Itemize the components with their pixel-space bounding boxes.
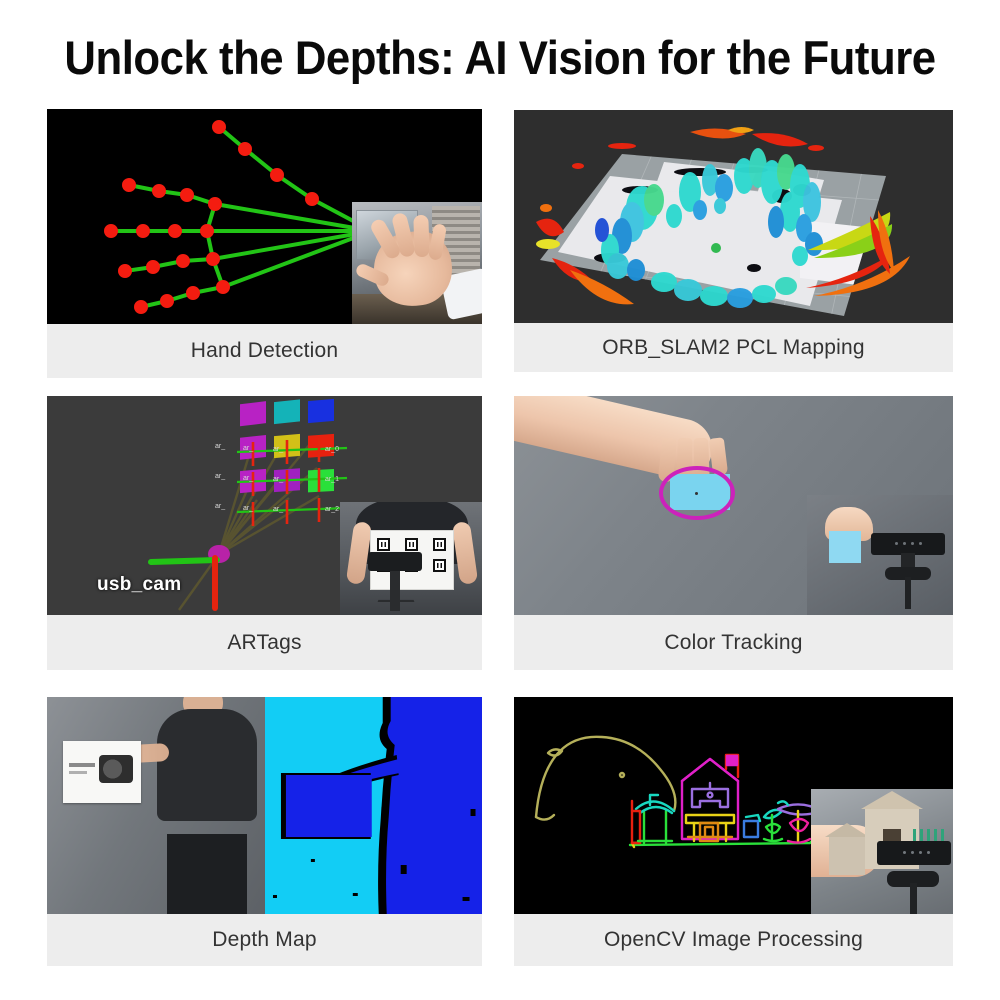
media-artags: ar_ar_ar_ar_0 ar_ar_ar_ar_1 ar_ar_ar_ar_… [47, 396, 482, 615]
camera-led [895, 542, 898, 545]
camera-led [911, 851, 914, 854]
usb-cam-frame-label: usb_cam [97, 574, 181, 596]
feature-card-grid: Hand Detection [0, 0, 1000, 1000]
small-house-model [829, 835, 865, 875]
ar-tag [433, 559, 446, 572]
small-house-roof [825, 823, 869, 837]
rgb-frame [47, 697, 265, 914]
caption-orb-slam2: ORB_SLAM2 PCL Mapping [514, 323, 953, 372]
paper-text-line [69, 771, 87, 774]
svg-text:ar_: ar_ [215, 473, 225, 480]
arm-right [452, 521, 478, 585]
camera-stand-leg [905, 577, 911, 609]
svg-text:ar_: ar_ [215, 503, 225, 510]
media-point-cloud [514, 110, 953, 323]
tripod-legs [373, 600, 419, 615]
svg-text:ar_: ar_ [215, 443, 225, 450]
card-orb-slam2[interactable]: ORB_SLAM2 PCL Mapping [514, 110, 953, 372]
inset-photo-artags [340, 502, 482, 615]
svg-text:ar_: ar_ [273, 446, 283, 453]
depth-frame [265, 697, 483, 914]
paper-robot-image [99, 755, 133, 783]
svg-text:ar_1: ar_1 [325, 476, 339, 483]
camera-body [871, 533, 945, 555]
camera-led [911, 542, 914, 545]
card-hand-detection[interactable]: Hand Detection [47, 109, 482, 378]
usb-camera-body [368, 552, 422, 571]
caption-depth-map: Depth Map [47, 914, 482, 966]
media-color-tracking: threshold [514, 396, 953, 615]
inset-photo-opencv [811, 789, 953, 914]
camera-led [919, 851, 922, 854]
svg-text:ar_2: ar_2 [325, 506, 339, 513]
person-torso [157, 709, 257, 821]
caption-artags: ARTags [47, 615, 482, 670]
caption-opencv: OpenCV Image Processing [514, 914, 953, 966]
person-legs [167, 834, 247, 914]
camera-led [919, 542, 922, 545]
media-depth-map [47, 697, 482, 914]
poster-page: Unlock the Depths: AI Vision for the Fut… [0, 0, 1000, 1000]
svg-text:ar_: ar_ [273, 506, 283, 513]
inset-photo-hand [352, 202, 482, 324]
camera-stand-leg [910, 883, 917, 914]
ar-tag [405, 538, 418, 551]
ar-tag [433, 538, 446, 551]
svg-text:ar_0: ar_0 [325, 446, 339, 453]
svg-text:ar_: ar_ [243, 445, 253, 452]
card-color-tracking[interactable]: threshold [514, 396, 953, 670]
large-house-roof [861, 791, 923, 809]
camera-led [903, 851, 906, 854]
tracking-centroid-dot [695, 492, 698, 495]
camera-led [903, 542, 906, 545]
held-paper [63, 741, 141, 803]
point-cloud-graphic [514, 110, 953, 323]
card-depth-map[interactable]: Depth Map [47, 697, 482, 966]
inset-photo-color-tracking [807, 495, 953, 615]
svg-text:ar_: ar_ [273, 476, 283, 483]
cyan-cube [829, 531, 861, 563]
media-opencv [514, 697, 953, 914]
svg-text:ar_: ar_ [243, 475, 253, 482]
depth-silhouette-graphic [265, 697, 483, 914]
svg-text:ar_: ar_ [243, 505, 253, 512]
caption-hand-detection: Hand Detection [47, 324, 482, 378]
caption-color-tracking: Color Tracking [514, 615, 953, 670]
camera-body [877, 841, 951, 865]
card-opencv-image-processing[interactable]: OpenCV Image Processing [514, 697, 953, 966]
camera-led [927, 851, 930, 854]
finger-ring [413, 215, 429, 257]
card-artags[interactable]: ar_ar_ar_ar_0 ar_ar_ar_ar_1 ar_ar_ar_ar_… [47, 396, 482, 670]
media-hand-detection [47, 109, 482, 324]
paper-text-line [69, 763, 95, 767]
ar-tag [377, 538, 390, 551]
